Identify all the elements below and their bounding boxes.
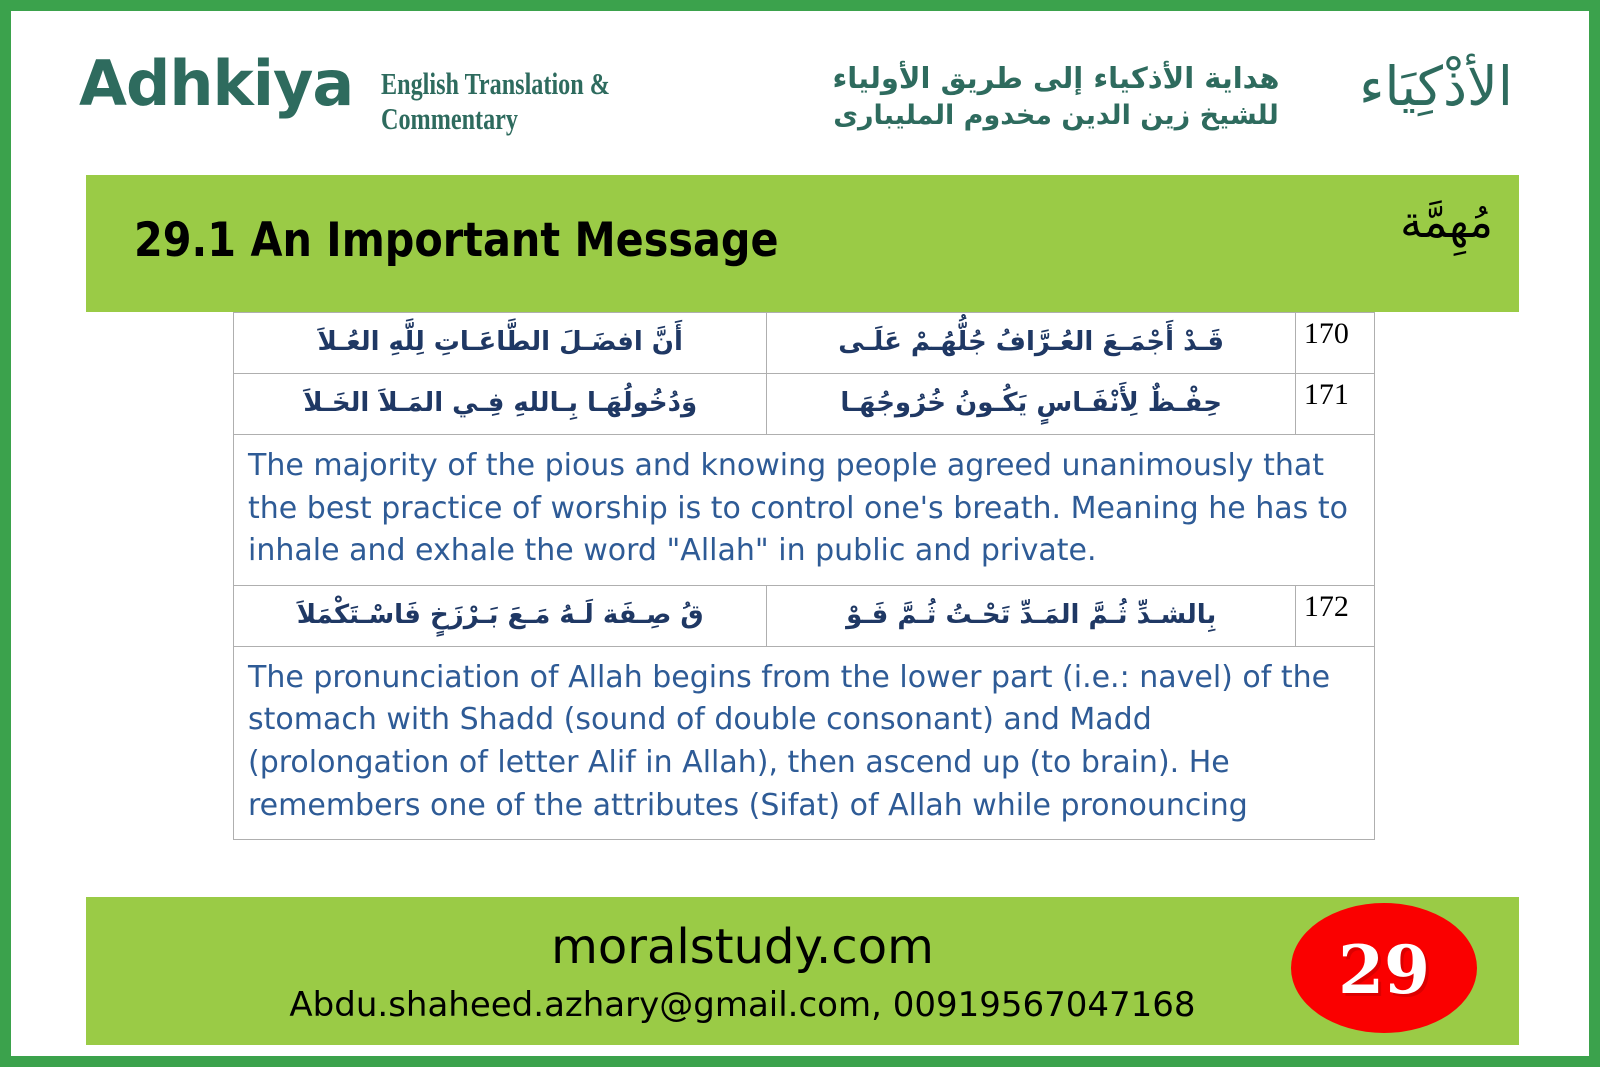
slide-footer: moralstudy.com Abdu.shaheed.azhary@gmail… (86, 897, 1519, 1045)
translation-text: The majority of the pious and knowing pe… (234, 435, 1375, 586)
page-number-badge: 29 (1291, 903, 1477, 1033)
verse-table-container: أَنَّ افضَـلَ الطَّاعَـاتِ لِلَّهِ العُـ… (233, 312, 1375, 912)
page-number-value: 29 (1291, 931, 1477, 1009)
table-row: أَنَّ افضَـلَ الطَّاعَـاتِ لِلَّهِ العُـ… (234, 313, 1375, 374)
slide-canvas: Adhkiya English Translation & Commentary… (0, 0, 1600, 1067)
arabic-book-title-line-1: هداية الأذكياء إلى طريق الأولياء (791, 59, 1321, 98)
verse-number: 171 (1295, 374, 1374, 435)
arabic-logo-adhkiya: الأذْكِيَاء (1311, 57, 1561, 116)
brand-subtitle: English Translation & Commentary (381, 67, 631, 136)
brand-subtitle-line-1: English Translation & (381, 67, 631, 102)
verse-hemistich-left: أَنَّ افضَـلَ الطَّاعَـاتِ لِلَّهِ العُـ… (234, 313, 767, 374)
arabic-book-title: هداية الأذكياء إلى طريق الأولياء للشيخ ز… (791, 59, 1321, 135)
verse-table-body: أَنَّ افضَـلَ الطَّاعَـاتِ لِلَّهِ العُـ… (234, 313, 1375, 840)
verse-table: أَنَّ افضَـلَ الطَّاعَـاتِ لِلَّهِ العُـ… (233, 312, 1375, 840)
section-title-bar: 29.1 An Important Message مُهِمَّة (86, 175, 1519, 312)
verse-hemistich-right: بِالشـدِّ ثُـمَّ المَـدِّ تَحْـتُ ثُـمَّ… (767, 585, 1295, 646)
brand-logo-adhkiya: Adhkiya (79, 53, 353, 115)
verse-hemistich-left: وَدُخُولُهَـا بِـاللهِ فِـي المَـلاَ الخ… (234, 374, 767, 435)
slide-header: Adhkiya English Translation & Commentary… (11, 11, 1589, 161)
translation-text: The pronunciation of Allah begins from t… (234, 646, 1375, 839)
brand-subtitle-line-2: Commentary (381, 102, 631, 137)
verse-hemistich-right: قَـدْ أَجْمَـعَ العُـرَّافُ جُلُّهُـمْ ع… (767, 313, 1295, 374)
verse-hemistich-right: حِفْـظٌ لِأَنْفَـاسٍ يَكُـونُ خُرُوجُهَـ… (767, 374, 1295, 435)
arabic-book-title-line-2: للشيخ زين الدين مخدوم المليبارى (791, 98, 1321, 134)
verse-number: 170 (1295, 313, 1374, 374)
arabic-section-tag: مُهِمَّة (1400, 197, 1493, 248)
verse-number: 172 (1295, 585, 1374, 646)
table-row: وَدُخُولُهَـا بِـاللهِ فِـي المَـلاَ الخ… (234, 374, 1375, 435)
page-title: 29.1 An Important Message (134, 213, 779, 268)
table-row: The pronunciation of Allah begins from t… (234, 646, 1375, 839)
table-row: The majority of the pious and knowing pe… (234, 435, 1375, 586)
verse-hemistich-left: قُ صِـفَة لَـهُ مَـعَ بَـرْزَخٍ فَاسْـتَ… (234, 585, 767, 646)
table-row: قُ صِـفَة لَـهُ مَـعَ بَـرْزَخٍ فَاسْـتَ… (234, 585, 1375, 646)
